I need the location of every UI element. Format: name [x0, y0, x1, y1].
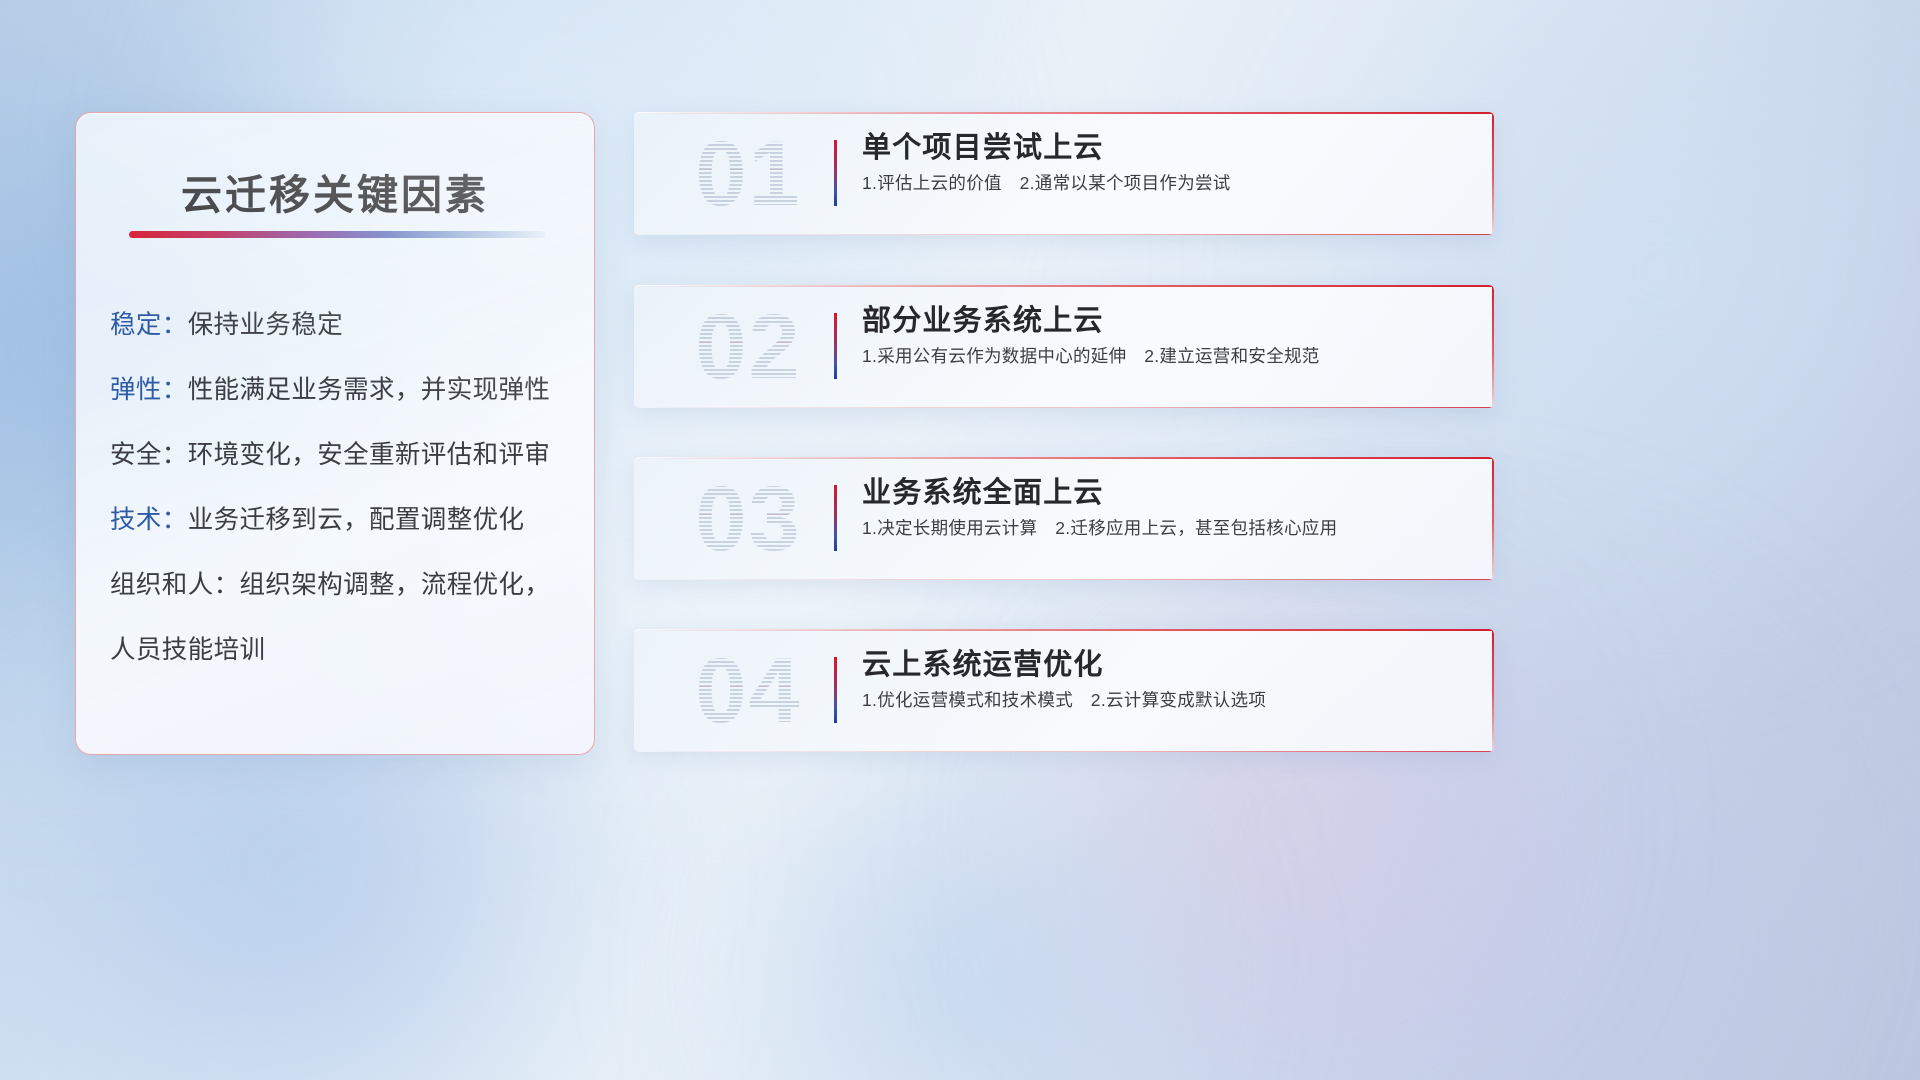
step-subtitle: 1.决定长期使用云计算 2.迁移应用上云，甚至包括核心应用 [862, 517, 1470, 540]
step-card[interactable]: 01单个项目尝试上云1.评估上云的价值 2.通常以某个项目作为尝试 [634, 112, 1494, 235]
factor-key: 技术： [110, 506, 188, 534]
factor-key: 稳定： [110, 311, 188, 339]
step-title: 部分业务系统上云 [862, 303, 1470, 339]
card-top-edge [634, 457, 1494, 459]
panel-title: 云迁移关键因素 [76, 161, 594, 221]
step-body: 云上系统运营优化1.优化运营模式和技术模式 2.云计算变成默认选项 [862, 647, 1470, 712]
factor-text: 保持业务稳定 [188, 311, 343, 339]
card-right-edge [1492, 285, 1494, 408]
factor-line: 组织和人：组织架构调整，流程优化， [110, 571, 574, 599]
step-divider-rule [834, 485, 837, 551]
step-divider-rule [834, 313, 837, 379]
factor-line: 人员技能培训 [110, 636, 574, 664]
step-subtitle: 1.采用公有云作为数据中心的延伸 2.建立运营和安全规范 [862, 345, 1470, 368]
step-body: 部分业务系统上云1.采用公有云作为数据中心的延伸 2.建立运营和安全规范 [862, 303, 1470, 368]
card-right-edge [1492, 112, 1494, 235]
step-body: 业务系统全面上云1.决定长期使用云计算 2.迁移应用上云，甚至包括核心应用 [862, 475, 1470, 540]
factor-line: 弹性：性能满足业务需求，并实现弹性 [110, 376, 574, 404]
step-number: 03 [656, 461, 841, 577]
key-factors-panel: 云迁移关键因素 稳定：保持业务稳定弹性：性能满足业务需求，并实现弹性安全：环境变… [75, 112, 595, 755]
title-underline-rule [129, 231, 545, 238]
step-card[interactable]: 04云上系统运营优化1.优化运营模式和技术模式 2.云计算变成默认选项 [634, 629, 1494, 752]
step-number: 02 [656, 289, 841, 405]
factor-key: 安全： [110, 441, 188, 469]
card-bottom-edge [634, 407, 1494, 408]
factor-line: 安全：环境变化，安全重新评估和评审 [110, 441, 574, 469]
factor-key: 弹性： [110, 376, 188, 404]
step-number: 01 [656, 116, 841, 232]
step-subtitle: 1.评估上云的价值 2.通常以某个项目作为尝试 [862, 172, 1470, 195]
slide-stage: 云迁移关键因素 稳定：保持业务稳定弹性：性能满足业务需求，并实现弹性安全：环境变… [0, 0, 1920, 1080]
card-top-edge [634, 285, 1494, 287]
factor-list: 稳定：保持业务稳定弹性：性能满足业务需求，并实现弹性安全：环境变化，安全重新评估… [110, 311, 574, 664]
factor-text: 组织架构调整，流程优化， [240, 571, 551, 599]
card-right-edge [1492, 629, 1494, 752]
factor-text: 环境变化，安全重新评估和评审 [188, 441, 551, 469]
factor-line: 技术：业务迁移到云，配置调整优化 [110, 506, 574, 534]
factor-key: 组织和人： [110, 571, 240, 599]
step-number: 04 [656, 633, 841, 749]
step-card[interactable]: 02部分业务系统上云1.采用公有云作为数据中心的延伸 2.建立运营和安全规范 [634, 285, 1494, 408]
factor-text: 人员技能培训 [110, 636, 265, 664]
step-title: 业务系统全面上云 [862, 475, 1470, 511]
card-right-edge [1492, 457, 1494, 580]
card-top-edge [634, 112, 1494, 114]
step-subtitle: 1.优化运营模式和技术模式 2.云计算变成默认选项 [862, 689, 1470, 712]
step-divider-rule [834, 657, 837, 723]
factor-text: 性能满足业务需求，并实现弹性 [188, 376, 551, 404]
card-bottom-edge [634, 234, 1494, 235]
factor-line: 稳定：保持业务稳定 [110, 311, 574, 339]
card-bottom-edge [634, 579, 1494, 580]
step-body: 单个项目尝试上云1.评估上云的价值 2.通常以某个项目作为尝试 [862, 130, 1470, 195]
card-top-edge [634, 629, 1494, 631]
step-title: 云上系统运营优化 [862, 647, 1470, 683]
card-bottom-edge [634, 751, 1494, 752]
step-card[interactable]: 03业务系统全面上云1.决定长期使用云计算 2.迁移应用上云，甚至包括核心应用 [634, 457, 1494, 580]
step-title: 单个项目尝试上云 [862, 130, 1470, 166]
step-divider-rule [834, 140, 837, 206]
factor-text: 业务迁移到云，配置调整优化 [188, 506, 525, 534]
